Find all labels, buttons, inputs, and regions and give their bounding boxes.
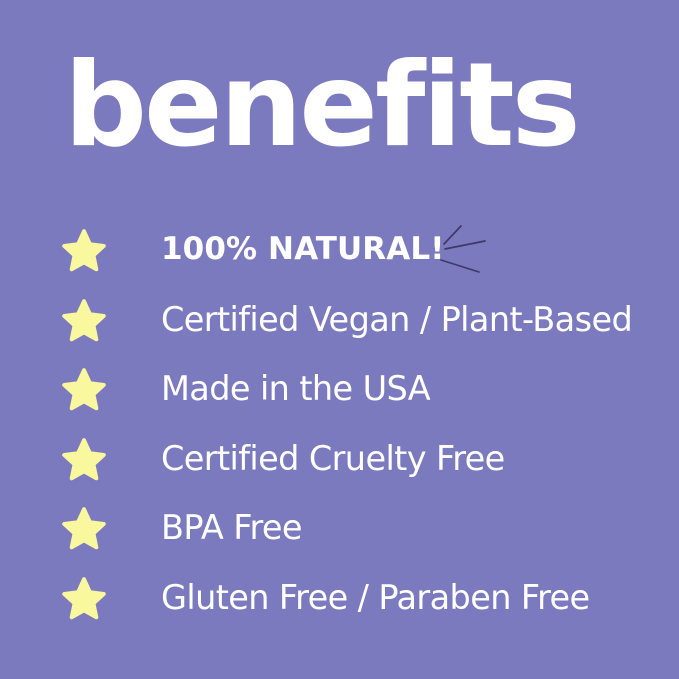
list-item: BPA Free <box>0 500 679 570</box>
star-icon <box>62 577 106 621</box>
benefits-poster: benefits 100% NATURAL! Certified Vegan /… <box>0 0 679 679</box>
list-item-label: Certified Vegan / Plant-Based <box>161 292 632 348</box>
list-item-label: Certified Cruelty Free <box>161 431 505 487</box>
star-icon <box>62 299 106 343</box>
list-item: Certified Vegan / Plant-Based <box>0 292 679 362</box>
list-item: 100% NATURAL! <box>0 222 679 292</box>
star-icon <box>62 438 106 482</box>
list-item-label: 100% NATURAL! <box>161 222 444 278</box>
star-icon <box>62 229 106 273</box>
list-item: Made in the USA <box>0 361 679 431</box>
list-item-label: Made in the USA <box>161 361 430 417</box>
list-item: Certified Cruelty Free <box>0 431 679 501</box>
list-item: Gluten Free / Paraben Free <box>0 570 679 640</box>
list-item-label: BPA Free <box>161 500 302 556</box>
star-icon <box>62 368 106 412</box>
page-title: benefits <box>64 46 624 166</box>
benefits-list: 100% NATURAL! Certified Vegan / Plant-Ba… <box>0 222 679 639</box>
star-icon <box>62 507 106 551</box>
list-item-label: Gluten Free / Paraben Free <box>161 570 590 626</box>
